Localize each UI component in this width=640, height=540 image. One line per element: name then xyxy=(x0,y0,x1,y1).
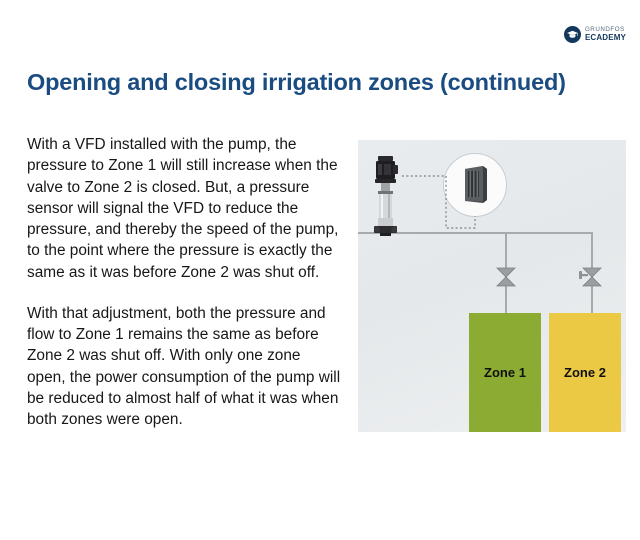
graduation-cap-icon xyxy=(564,26,581,43)
logo-wordmark: GRUNDFOS ECADEMY xyxy=(585,27,626,42)
paragraph-2: With that adjustment, both the pressure … xyxy=(27,303,343,431)
slide-root: GRUNDFOS ECADEMY Opening and closing irr… xyxy=(0,0,640,540)
vfd-drive-cabinet-icon xyxy=(461,165,489,205)
body-text-column: With a VFD installed with the pump, the … xyxy=(27,134,343,430)
vfd-callout-circle xyxy=(443,153,507,217)
irrigation-system-diagram: Zone 1 Zone 2 xyxy=(358,140,626,432)
paragraph-1: With a VFD installed with the pump, the … xyxy=(27,134,343,283)
valve-zone-2[interactable] xyxy=(579,262,605,292)
zone-1-label: Zone 1 xyxy=(484,365,526,380)
logo-line-ecademy: ECADEMY xyxy=(585,34,626,42)
page-title: Opening and closing irrigation zones (co… xyxy=(27,68,567,98)
valve-zone-1[interactable] xyxy=(493,262,519,292)
zone-2-label: Zone 2 xyxy=(564,365,606,380)
vertical-multistage-pump-icon xyxy=(370,156,402,236)
grundfos-ecademy-logo: GRUNDFOS ECADEMY xyxy=(564,26,626,43)
zone-1-block: Zone 1 xyxy=(469,313,541,432)
zone-2-block: Zone 2 xyxy=(549,313,621,432)
